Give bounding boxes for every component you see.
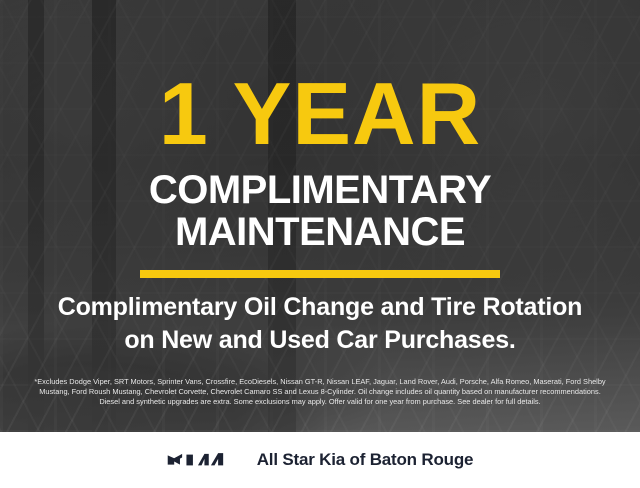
disclaimer-text: *Excludes Dodge Viper, SRT Motors, Sprin… (14, 377, 626, 408)
headline-primary: 1 YEAR (159, 74, 481, 155)
kia-logo (167, 449, 239, 471)
hero-section: 1 YEAR COMPLIMENTARY MAINTENANCE Complim… (0, 0, 640, 432)
footer-bar: All Star Kia of Baton Rouge (0, 432, 640, 488)
promotional-banner: 1 YEAR COMPLIMENTARY MAINTENANCE Complim… (0, 0, 640, 488)
hero-content: 1 YEAR COMPLIMENTARY MAINTENANCE Complim… (0, 0, 640, 432)
disclaimer-line-2: Mustang, Ford Roush Mustang, Chevrolet C… (14, 387, 626, 397)
subheadline-line-1: Complimentary Oil Change and Tire Rotati… (58, 292, 583, 324)
headline-secondary-line-2: MAINTENANCE (175, 211, 465, 253)
subheadline-line-2: on New and Used Car Purchases. (124, 325, 515, 357)
disclaimer-line-1: *Excludes Dodge Viper, SRT Motors, Sprin… (14, 377, 626, 387)
headline-secondary-line-1: COMPLIMENTARY (149, 169, 491, 211)
yellow-divider-bar (140, 270, 500, 278)
dealer-name: All Star Kia of Baton Rouge (257, 450, 474, 470)
disclaimer-line-3: Diesel and synthetic upgrades are extra.… (14, 397, 626, 407)
